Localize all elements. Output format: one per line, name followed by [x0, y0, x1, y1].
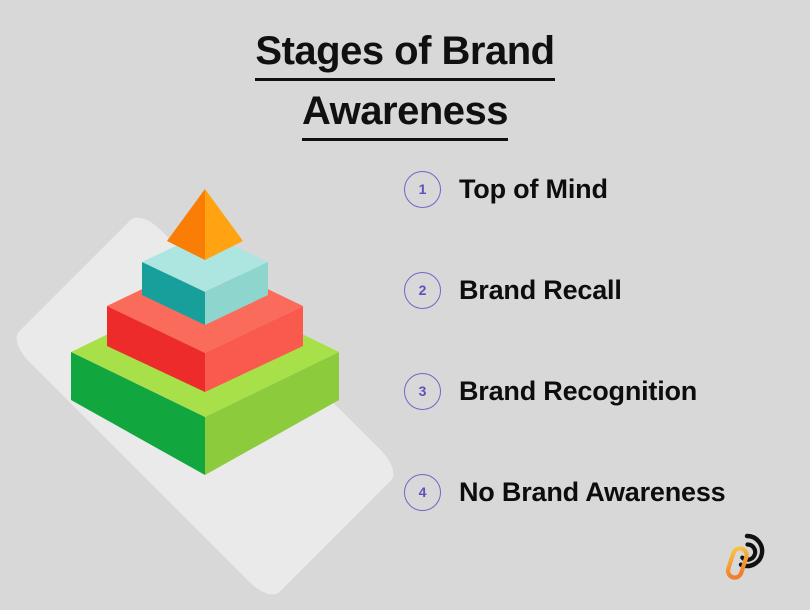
stage-number-badge-1: 1	[404, 171, 441, 208]
stage-item-no-brand-awareness[interactable]: 4 No Brand Awareness	[404, 463, 804, 521]
stage-item-top-of-mind[interactable]: 1 Top of Mind	[404, 160, 804, 218]
stage-label-1: Top of Mind	[459, 174, 608, 205]
stage-number-badge-2: 2	[404, 272, 441, 309]
stage-number-badge-4: 4	[404, 474, 441, 511]
logo-svg	[716, 528, 778, 590]
pyramid-icon	[0, 170, 410, 530]
stage-item-brand-recall[interactable]: 2 Brand Recall	[404, 261, 804, 319]
logo-loop	[726, 547, 748, 580]
stage-label-3: Brand Recognition	[459, 376, 697, 407]
stage-item-brand-recognition[interactable]: 3 Brand Recognition	[404, 362, 804, 420]
page-title-line-1: Stages of Brand	[0, 26, 810, 86]
pyramid-tier-top-of-mind	[0, 170, 410, 530]
stage-number-badge-3: 3	[404, 373, 441, 410]
pyramid-tier-1-right-face	[0, 170, 410, 530]
slide-canvas: Stages of Brand Awareness 1 Top	[0, 0, 810, 610]
stage-list: 1 Top of Mind 2 Brand Recall 3 Brand Rec…	[404, 160, 804, 564]
page-title: Stages of Brand Awareness	[0, 26, 810, 146]
stage-label-2: Brand Recall	[459, 275, 622, 306]
page-title-line-2: Awareness	[0, 86, 810, 146]
stage-label-4: No Brand Awareness	[459, 477, 726, 508]
logo-icon	[716, 528, 778, 590]
